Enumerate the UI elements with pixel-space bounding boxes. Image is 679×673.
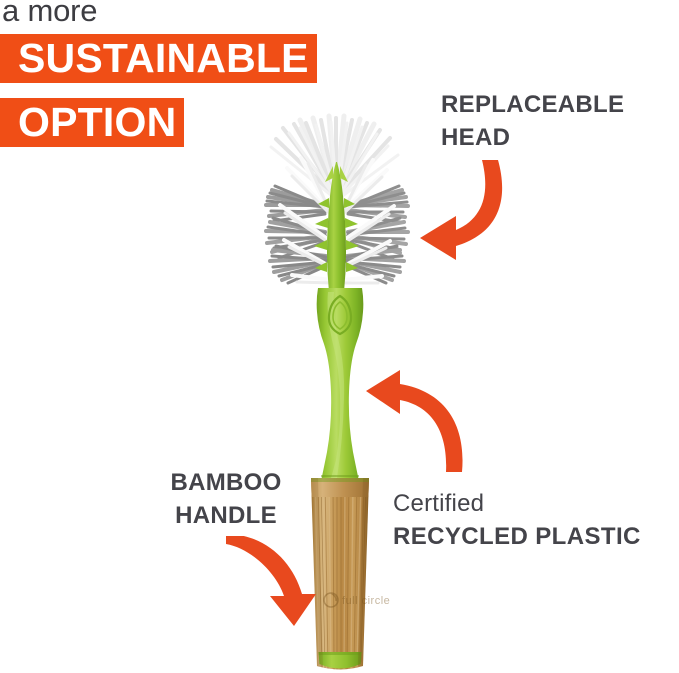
callout-bamboo-handle-line2: HANDLE bbox=[145, 499, 307, 532]
callout-replaceable-head: REPLACEABLE HEAD bbox=[441, 88, 624, 154]
curved-arrow-to-bamboo-handle bbox=[222, 536, 322, 636]
callout-recycled-plastic-line2: RECYCLED PLASTIC bbox=[393, 520, 641, 553]
headline-bar-option: OPTION bbox=[0, 98, 184, 147]
callout-recycled-plastic-line1: Certified bbox=[393, 487, 641, 520]
headline-bar-sustainable: SUSTAINABLE bbox=[0, 34, 317, 83]
product-infographic: full circle a more SUSTAINABLE OPTION RE… bbox=[0, 0, 679, 673]
callout-bamboo-handle-line1: BAMBOO bbox=[145, 466, 307, 499]
callout-bamboo-handle: BAMBOO HANDLE bbox=[145, 466, 307, 532]
svg-text:full circle: full circle bbox=[342, 595, 390, 607]
callout-recycled-plastic: Certified RECYCLED PLASTIC bbox=[393, 487, 641, 553]
callout-replaceable-head-line2: HEAD bbox=[441, 121, 624, 154]
curved-arrow-to-green-neck bbox=[358, 368, 470, 480]
green-neck bbox=[317, 288, 364, 481]
callout-replaceable-head-line1: REPLACEABLE bbox=[441, 88, 624, 121]
curved-arrow-to-brush-head bbox=[398, 152, 510, 264]
headline-kicker: a more bbox=[0, 0, 360, 26]
headline-block: a more SUSTAINABLE OPTION bbox=[0, 0, 360, 147]
